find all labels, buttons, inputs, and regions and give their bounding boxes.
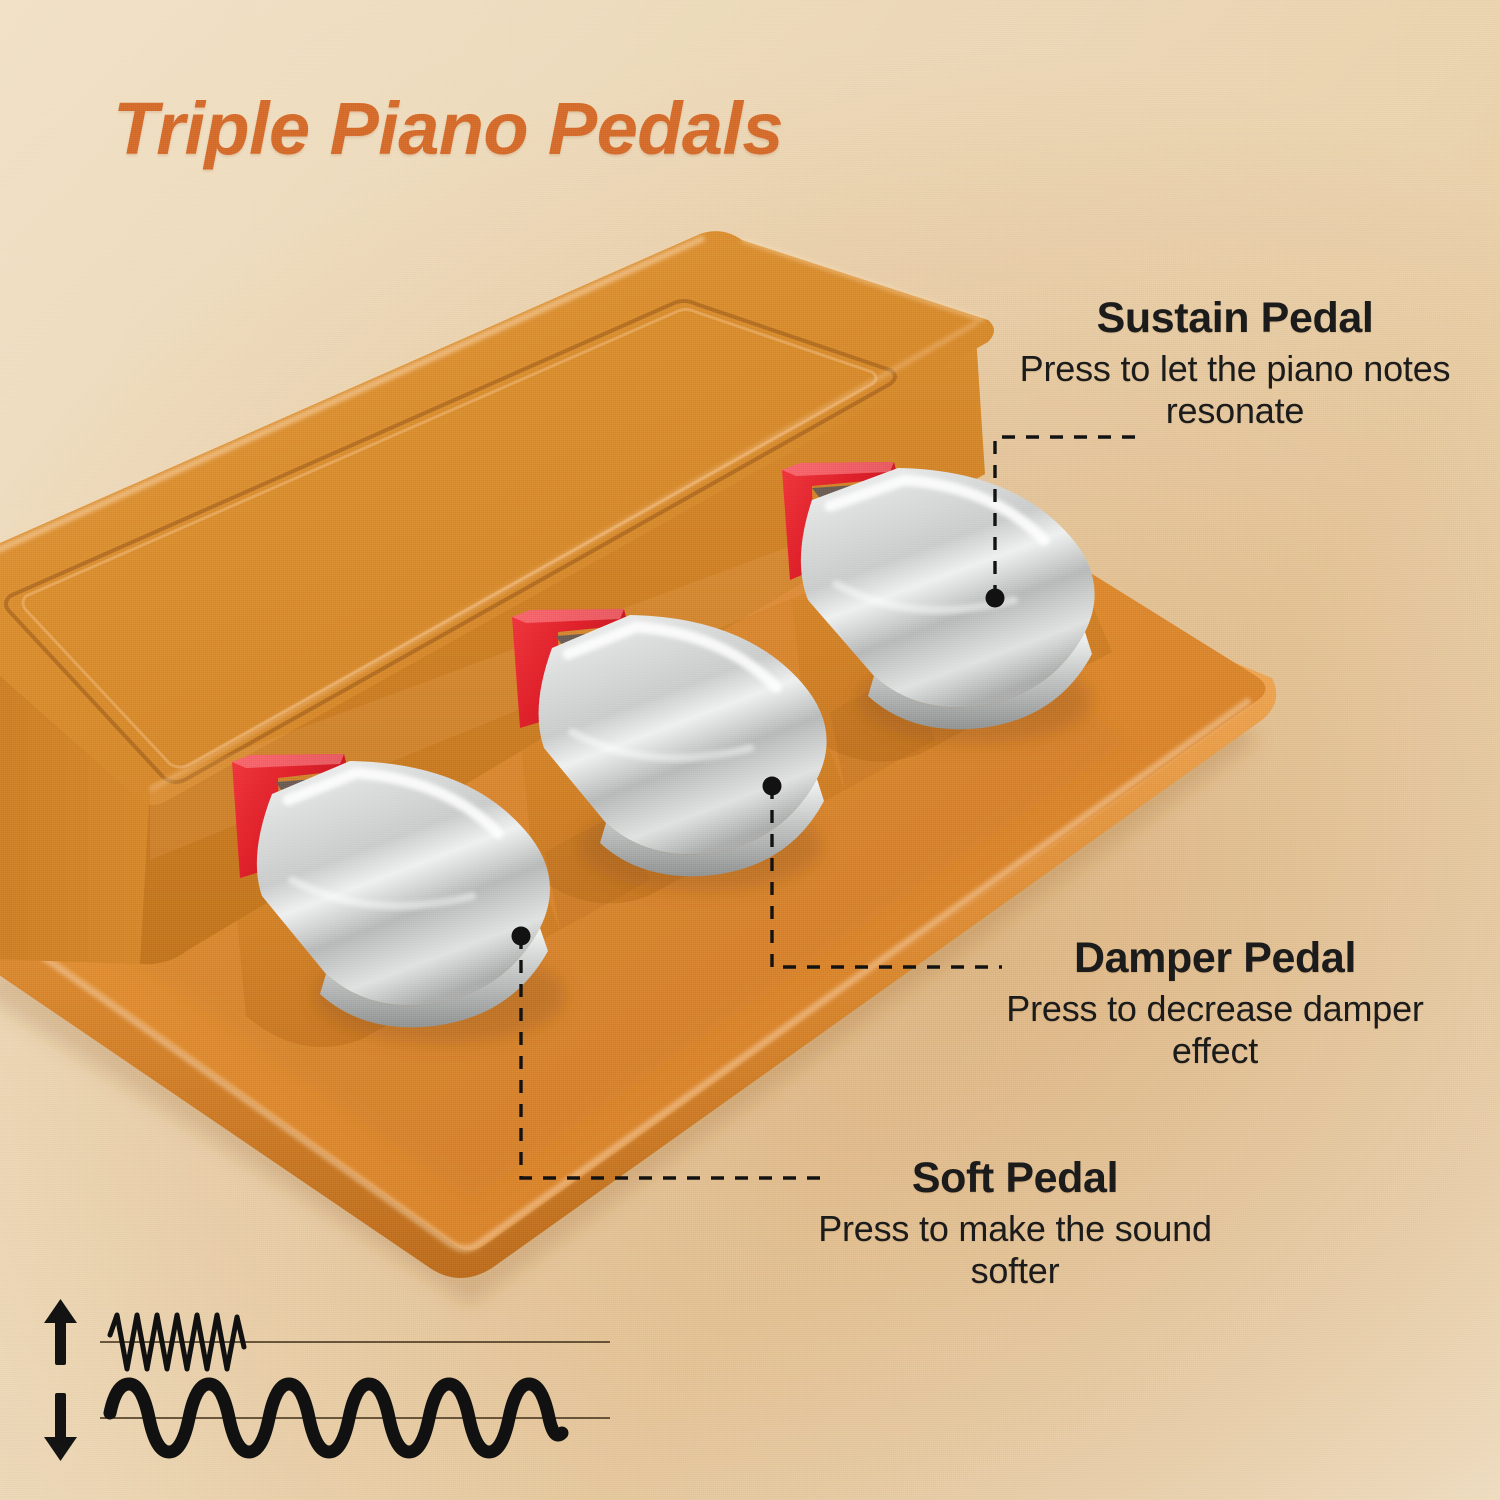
callout-soft: Soft Pedal Press to make the sound softe… bbox=[780, 1156, 1250, 1292]
callout-sustain-body: Press to let the piano notes resonate bbox=[1000, 348, 1470, 432]
product-image bbox=[0, 0, 1500, 1500]
callout-soft-title: Soft Pedal bbox=[780, 1156, 1250, 1202]
marker-dot-damper bbox=[763, 777, 782, 796]
marker-dot-soft bbox=[512, 927, 531, 946]
arrow-up-icon bbox=[44, 1299, 77, 1365]
callout-damper: Damper Pedal Press to decrease damper ef… bbox=[980, 936, 1450, 1072]
waveform-diagram bbox=[30, 1285, 670, 1475]
callout-sustain-title: Sustain Pedal bbox=[1000, 296, 1470, 342]
callout-soft-body: Press to make the sound softer bbox=[780, 1208, 1250, 1292]
callout-damper-body: Press to decrease damper effect bbox=[980, 988, 1450, 1072]
infographic-canvas: Triple Piano Pedals Sustain Pedal Press … bbox=[0, 0, 1500, 1500]
callout-sustain: Sustain Pedal Press to let the piano not… bbox=[1000, 296, 1470, 432]
page-title: Triple Piano Pedals bbox=[113, 86, 783, 171]
callout-damper-title: Damper Pedal bbox=[980, 936, 1450, 982]
marker-dot-sustain bbox=[986, 589, 1005, 608]
arrow-down-icon bbox=[44, 1393, 77, 1461]
